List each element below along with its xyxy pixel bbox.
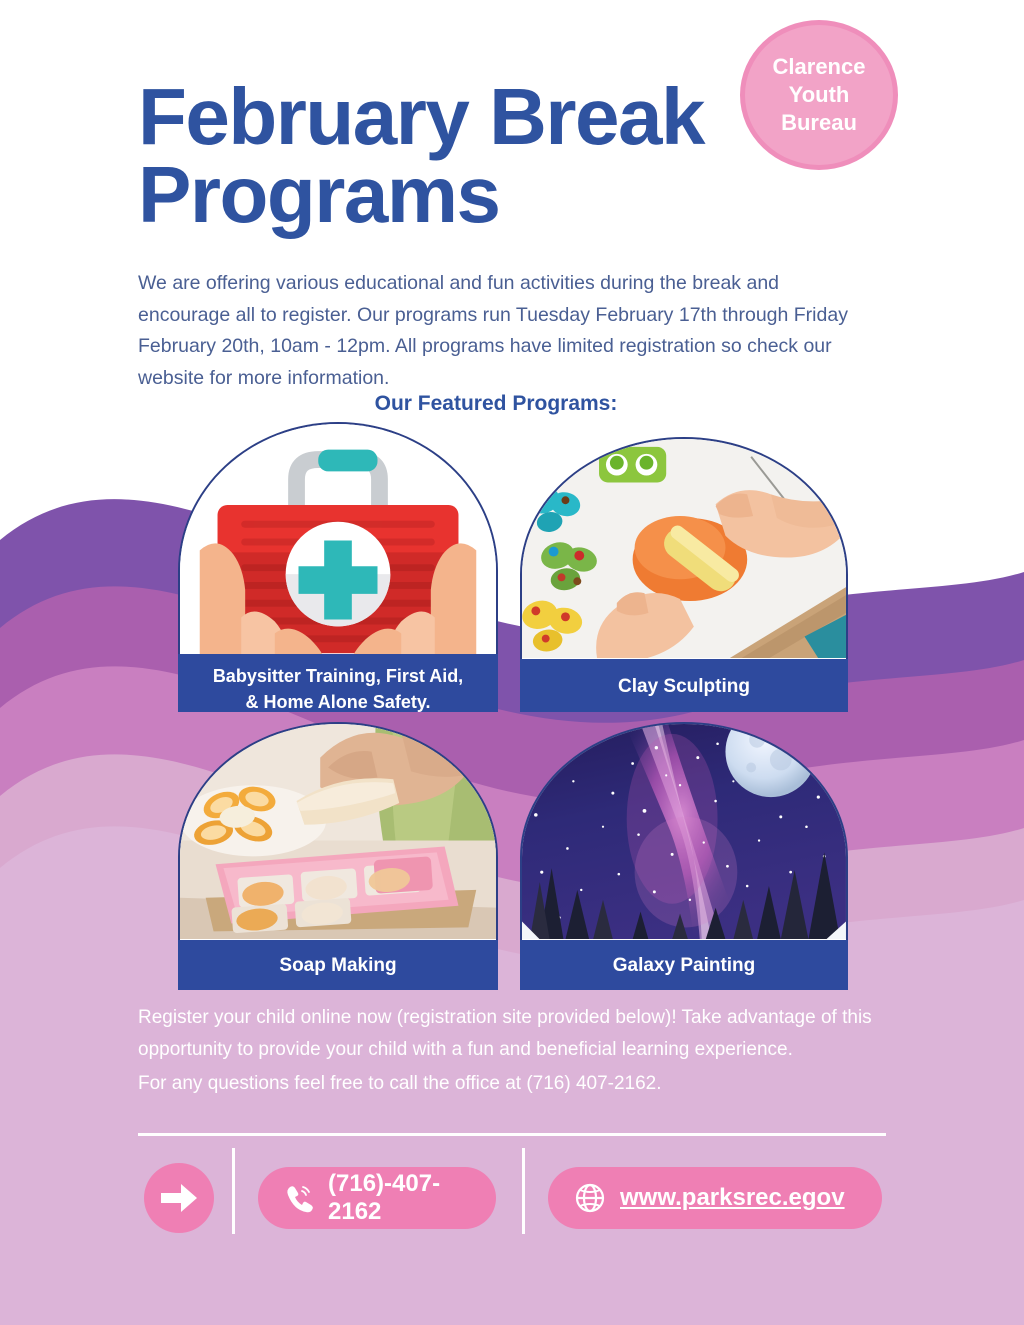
badge-line-1: Clarence bbox=[773, 53, 866, 81]
website-url-label: www.parksrec.egov bbox=[620, 1184, 845, 1212]
program-card-soap[interactable]: Soap Making bbox=[178, 722, 498, 990]
program-label-soap: Soap Making bbox=[178, 940, 498, 990]
program-card-galaxy[interactable]: Galaxy Painting bbox=[520, 722, 848, 990]
program-label-babysitter-line-2: & Home Alone Safety. bbox=[245, 692, 430, 712]
program-image-babysitter bbox=[178, 422, 498, 662]
program-label-clay: Clay Sculpting bbox=[520, 659, 848, 712]
page-title-line-1: February Break bbox=[138, 72, 704, 161]
outro-line-2: For any questions feel free to call the … bbox=[138, 1068, 878, 1100]
page-title: February BreakPrograms bbox=[138, 78, 738, 233]
program-label-galaxy: Galaxy Painting bbox=[520, 940, 848, 990]
flyer-page: February BreakPrograms Clarence Youth Bu… bbox=[0, 0, 1024, 1325]
footer-divider-horizontal bbox=[138, 1133, 886, 1136]
header: February BreakPrograms bbox=[138, 78, 898, 233]
outro-text: Register your child online now (registra… bbox=[138, 1002, 878, 1100]
program-image-clay bbox=[520, 437, 848, 659]
program-image-galaxy bbox=[520, 722, 848, 940]
phone-button[interactable]: (716)-407-2162 bbox=[258, 1167, 496, 1229]
program-image-soap bbox=[178, 722, 498, 940]
soap-making-photo bbox=[180, 724, 496, 939]
arrow-right-icon[interactable] bbox=[144, 1163, 214, 1233]
program-label-babysitter-line-1: Babysitter Training, First Aid, bbox=[213, 666, 463, 686]
program-label-babysitter: Babysitter Training, First Aid, & Home A… bbox=[178, 654, 498, 712]
galaxy-painting-photo bbox=[522, 724, 846, 939]
footer-divider-vertical-1 bbox=[232, 1148, 235, 1234]
arrow-right-glyph bbox=[159, 1181, 199, 1215]
first-aid-kit-icon bbox=[180, 424, 496, 661]
intro-paragraph: We are offering various educational and … bbox=[138, 268, 854, 394]
clay-sculpting-photo bbox=[522, 439, 846, 658]
footer-divider-vertical-2 bbox=[522, 1148, 525, 1234]
page-title-line-2: Programs bbox=[138, 150, 499, 239]
phone-number-label: (716)-407-2162 bbox=[328, 1170, 470, 1226]
outro-line-1: Register your child online now (registra… bbox=[138, 1002, 878, 1066]
website-button[interactable]: www.parksrec.egov bbox=[548, 1167, 882, 1229]
program-card-babysitter[interactable]: Babysitter Training, First Aid, & Home A… bbox=[178, 422, 498, 712]
phone-ringing-icon bbox=[284, 1183, 314, 1213]
featured-programs-heading: Our Featured Programs: bbox=[138, 392, 854, 416]
program-card-clay[interactable]: Clay Sculpting bbox=[520, 437, 848, 712]
globe-icon bbox=[574, 1182, 606, 1214]
